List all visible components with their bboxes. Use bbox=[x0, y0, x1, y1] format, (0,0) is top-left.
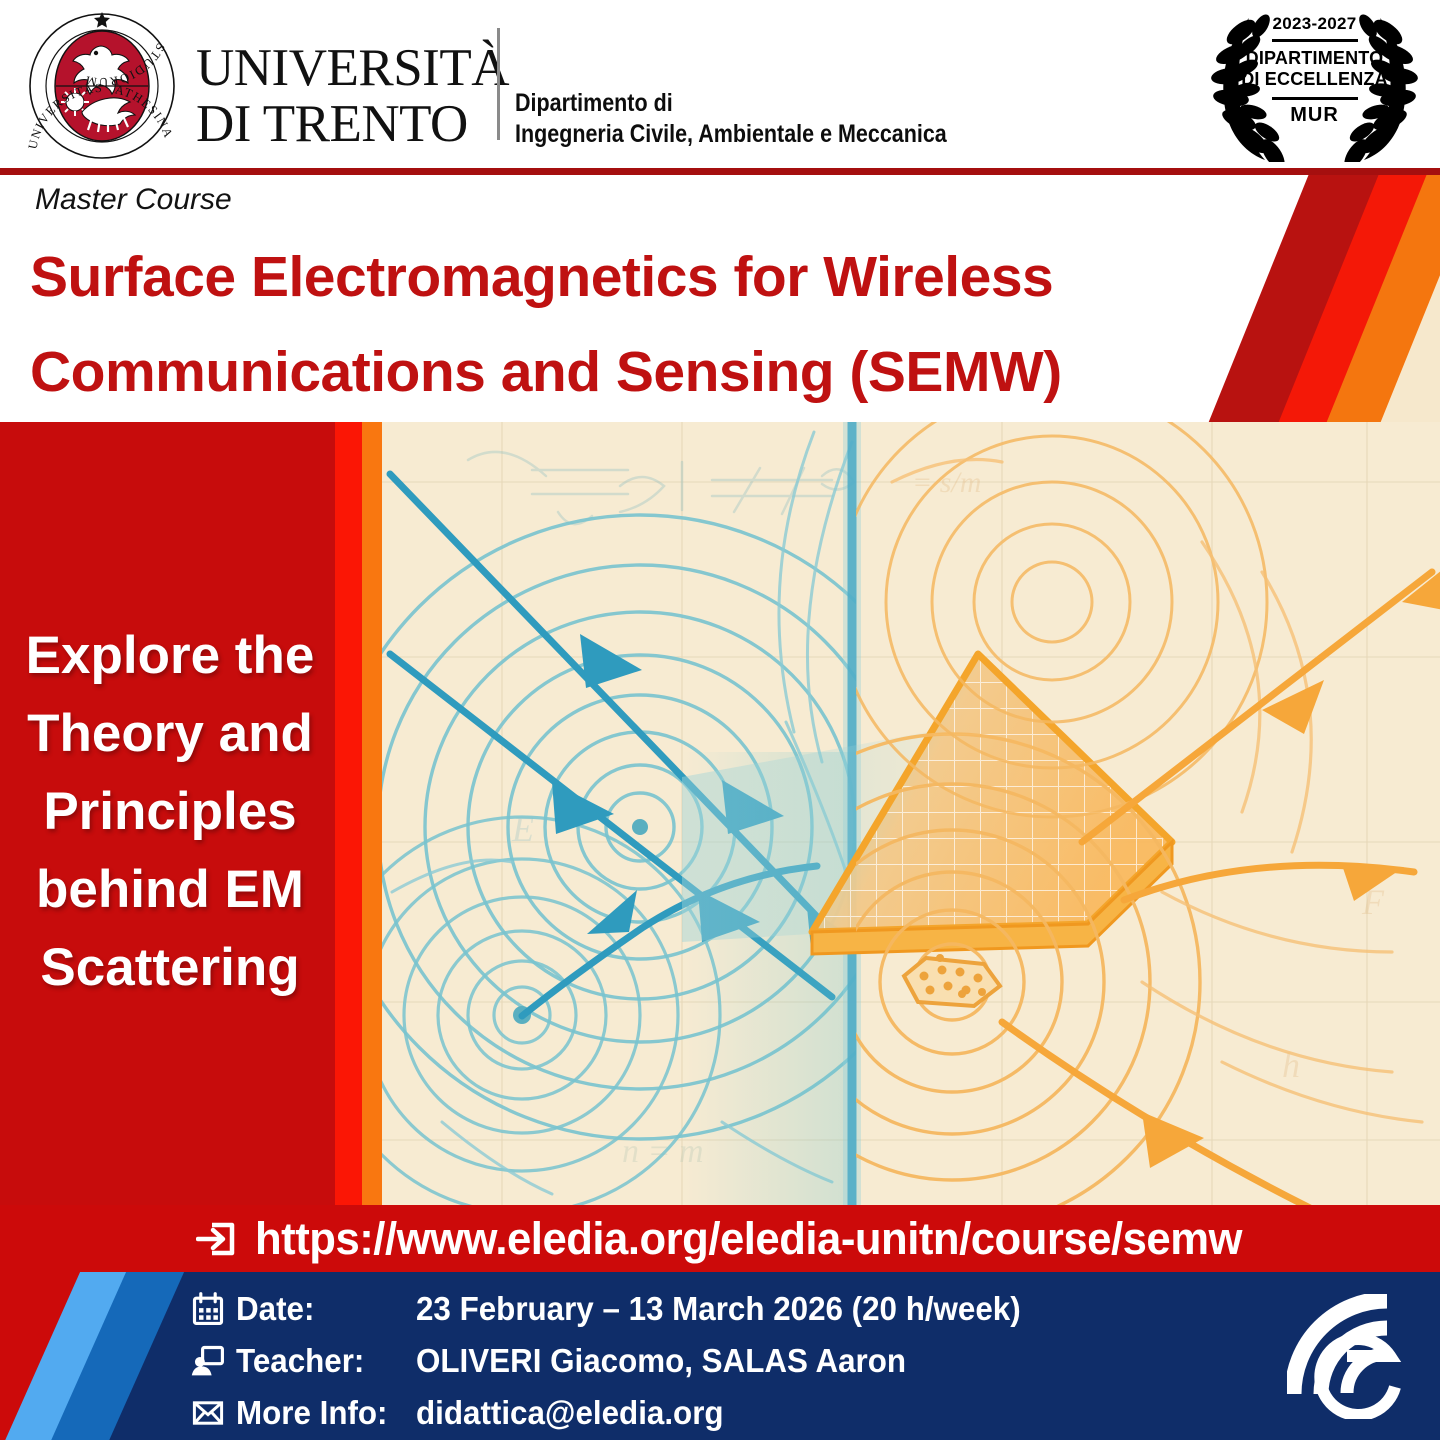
page-title: Surface Electromagnetics for Wireless Co… bbox=[30, 230, 1210, 420]
poster-footer: Date: 23 February – 13 March 2026 (20 h/… bbox=[0, 1272, 1440, 1440]
badge-years: 2023-2027 bbox=[1273, 14, 1357, 34]
tagline-line-2: Theory and bbox=[10, 695, 330, 773]
department-line2: Ingegneria Civile, Ambientale e Meccanic… bbox=[515, 119, 947, 150]
date-label: Date: bbox=[236, 1290, 407, 1328]
badge-line1: DIPARTIMENTO bbox=[1246, 48, 1384, 69]
course-kicker: Master Course bbox=[35, 183, 232, 217]
tagline-text: Explore the Theory and Principles behind… bbox=[10, 617, 330, 1007]
more-info-value[interactable]: didattica@eledia.org bbox=[416, 1394, 724, 1432]
university-name-line2: DI TRENTO bbox=[196, 96, 496, 152]
more-info-label: More Info: bbox=[236, 1394, 407, 1432]
teacher-value: OLIVERI Giacomo, SALAS Aaron bbox=[416, 1342, 906, 1380]
university-wordmark: UNIVERSITÀ DI TRENTO bbox=[196, 40, 496, 152]
tagline-line-5: Scattering bbox=[10, 929, 330, 1007]
header-vertical-divider bbox=[497, 28, 500, 140]
excellence-badge: 2023-2027 DIPARTIMENTO DI ECCELLENZA MUR bbox=[1207, 4, 1422, 162]
tagline-line-3: Principles bbox=[10, 773, 330, 851]
illustration-label-f2: = s/m bbox=[912, 466, 981, 499]
em-scattering-illustration: E F h = s/m n = m bbox=[382, 422, 1440, 1205]
vertical-stripe-red bbox=[335, 422, 362, 1205]
tagline-line-4: behind EM bbox=[10, 851, 330, 929]
vertical-stripe-orange bbox=[362, 422, 382, 1205]
tagline-line-1: Explore the bbox=[10, 617, 330, 695]
main-body: Explore the Theory and Principles behind… bbox=[0, 422, 1440, 1205]
date-value: 23 February – 13 March 2026 (20 h/week) bbox=[416, 1290, 1021, 1328]
calendar-icon bbox=[190, 1289, 236, 1329]
title-line-1: Surface Electromagnetics for Wireless bbox=[30, 230, 1210, 325]
university-name-line1: UNIVERSITÀ bbox=[196, 40, 496, 96]
badge-rule-top bbox=[1272, 39, 1358, 42]
badge-line2: DI ECCELLENZA bbox=[1241, 69, 1388, 90]
login-arrow-icon bbox=[196, 1219, 236, 1259]
department-line1: Dipartimento di bbox=[515, 88, 947, 119]
footer-row-more-info: More Info: didattica@eledia.org bbox=[190, 1390, 740, 1435]
footer-row-teacher: Teacher: OLIVERI Giacomo, SALAS Aaron bbox=[190, 1338, 932, 1383]
course-url[interactable]: https://www.eledia.org/eledia-unitn/cour… bbox=[255, 1213, 1242, 1265]
title-block: Master Course Surface Electromagnetics f… bbox=[0, 175, 1440, 422]
teacher-icon bbox=[190, 1341, 236, 1381]
eledia-logo bbox=[1287, 1294, 1412, 1419]
teacher-label: Teacher: bbox=[236, 1342, 407, 1380]
department-name: Dipartimento di Ingegneria Civile, Ambie… bbox=[515, 88, 1017, 150]
title-line-2: Communications and Sensing (SEMW) bbox=[30, 325, 1210, 420]
university-crest-logo: UNIVERSITAS ATHESINA STUDIORUM bbox=[22, 8, 182, 163]
envelope-icon bbox=[190, 1393, 236, 1433]
poster-header: UNIVERSITAS ATHESINA STUDIORUM UNIVERSIT… bbox=[0, 0, 1440, 170]
footer-row-date: Date: 23 February – 13 March 2026 (20 h/… bbox=[190, 1286, 1053, 1331]
poster-root: UNIVERSITAS ATHESINA STUDIORUM UNIVERSIT… bbox=[0, 0, 1440, 1440]
illustration-label-e: E bbox=[511, 809, 534, 849]
url-band[interactable]: https://www.eledia.org/eledia-unitn/cour… bbox=[0, 1205, 1440, 1272]
badge-rule-bottom bbox=[1272, 97, 1358, 100]
header-red-rule bbox=[0, 168, 1440, 175]
badge-ministry: MUR bbox=[1290, 104, 1339, 127]
